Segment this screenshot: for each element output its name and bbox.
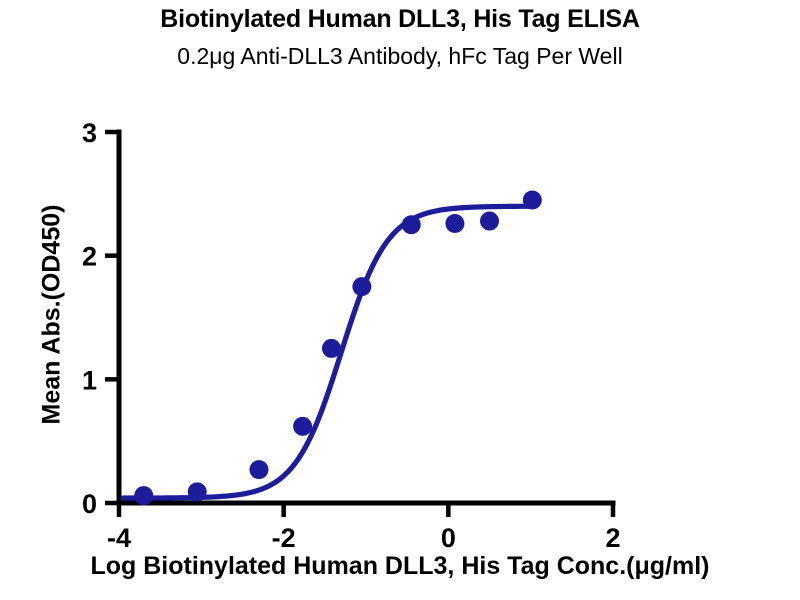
- data-point: [352, 277, 371, 296]
- data-point: [322, 339, 341, 358]
- y-tick-group: 0123: [82, 118, 119, 519]
- x-tick-label: 2: [605, 523, 620, 553]
- data-point: [293, 417, 312, 436]
- data-point: [188, 482, 207, 501]
- x-tick-label: 0: [441, 523, 456, 553]
- data-point: [445, 214, 464, 233]
- data-point: [134, 486, 153, 505]
- data-points-group: [134, 191, 542, 506]
- data-point: [480, 212, 499, 231]
- chart-figure: Biotinylated Human DLL3, His Tag ELISA 0…: [0, 0, 800, 600]
- data-point: [249, 460, 268, 479]
- x-tick-label: -4: [107, 523, 131, 553]
- x-tick-label: -2: [272, 523, 296, 553]
- plot-area: -4-202 0123: [0, 0, 800, 600]
- x-tick-group: -4-202: [107, 503, 621, 553]
- y-tick-label: 0: [82, 489, 97, 519]
- axes-group: [119, 132, 613, 503]
- data-point: [523, 191, 542, 210]
- y-tick-label: 3: [82, 118, 97, 148]
- y-tick-label: 1: [82, 365, 97, 395]
- y-tick-label: 2: [82, 242, 97, 272]
- data-point: [402, 215, 421, 234]
- axis-lines: [119, 132, 613, 503]
